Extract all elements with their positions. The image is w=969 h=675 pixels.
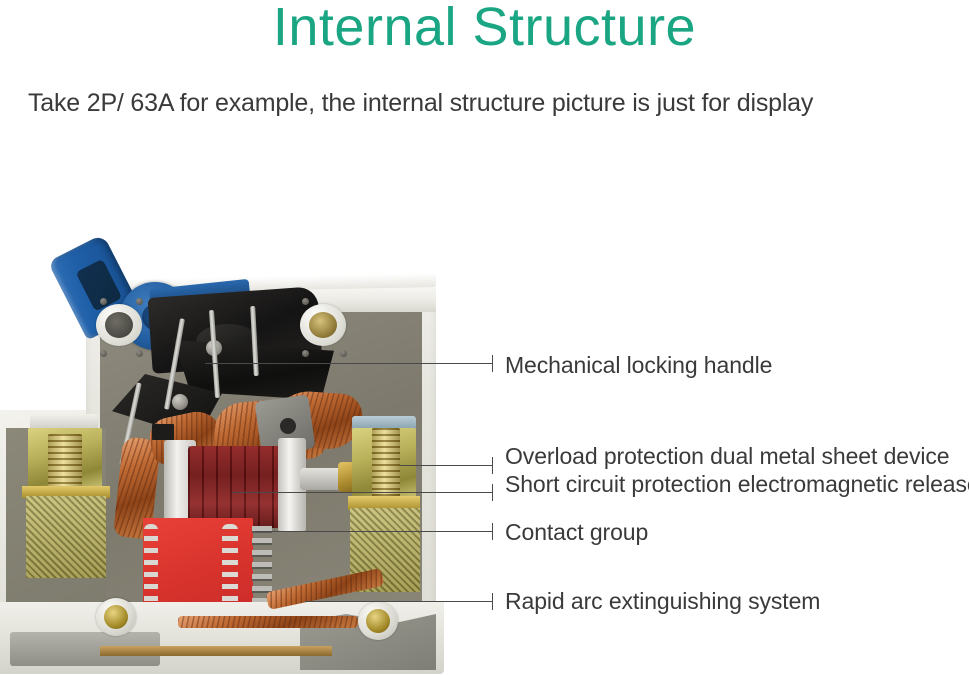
housing-pin bbox=[340, 350, 347, 357]
copper-busbar-lower bbox=[178, 616, 358, 628]
leader-line-5 bbox=[305, 601, 492, 602]
housing-pin bbox=[100, 350, 107, 357]
callout-label-overload-protection: Overload protection dual metal sheet dev… bbox=[505, 443, 949, 470]
right-terminal-screw bbox=[372, 428, 400, 500]
leader-line-3 bbox=[232, 492, 492, 493]
housing-pin bbox=[302, 298, 309, 305]
leader-tick-5 bbox=[492, 593, 493, 610]
page-title: Internal Structure bbox=[0, 0, 969, 58]
foot-screw bbox=[96, 598, 136, 636]
leader-tick-2 bbox=[492, 457, 493, 474]
housing-pin bbox=[136, 350, 143, 357]
housing-pin bbox=[136, 298, 143, 305]
coil-windings bbox=[188, 446, 284, 528]
internal-structure-infographic: Internal Structure Take 2P/ 63A for exam… bbox=[0, 0, 969, 675]
callout-label-contact-group: Contact group bbox=[505, 519, 648, 546]
page-subtitle: Take 2P/ 63A for example, the internal s… bbox=[28, 89, 813, 118]
lower-busbar bbox=[100, 646, 332, 656]
leader-tick-1 bbox=[492, 355, 493, 372]
circuit-breaker-cutaway-image bbox=[0, 232, 460, 675]
housing-marker-chip bbox=[152, 424, 174, 440]
left-terminal-cage-clamp bbox=[26, 496, 106, 578]
foot-screw bbox=[358, 602, 398, 640]
leader-tick-4 bbox=[492, 523, 493, 540]
housing-boss-left bbox=[96, 304, 142, 346]
callout-label-mechanical-locking-handle: Mechanical locking handle bbox=[505, 352, 772, 379]
leader-tick-3 bbox=[492, 484, 493, 501]
callout-label-short-circuit-protection: Short circuit protection electromagnetic… bbox=[505, 471, 969, 498]
housing-boss-right bbox=[300, 304, 346, 346]
left-terminal-screw bbox=[48, 434, 82, 488]
callout-label-rapid-arc-extinguishing: Rapid arc extinguishing system bbox=[505, 588, 820, 615]
leader-line-1 bbox=[205, 363, 492, 364]
housing-pin bbox=[100, 298, 107, 305]
leader-line-4 bbox=[255, 531, 492, 532]
contact-carrier-hole bbox=[280, 418, 296, 434]
mechanism-rivet bbox=[172, 394, 188, 410]
leader-line-2 bbox=[400, 465, 492, 466]
housing-pin bbox=[302, 350, 309, 357]
